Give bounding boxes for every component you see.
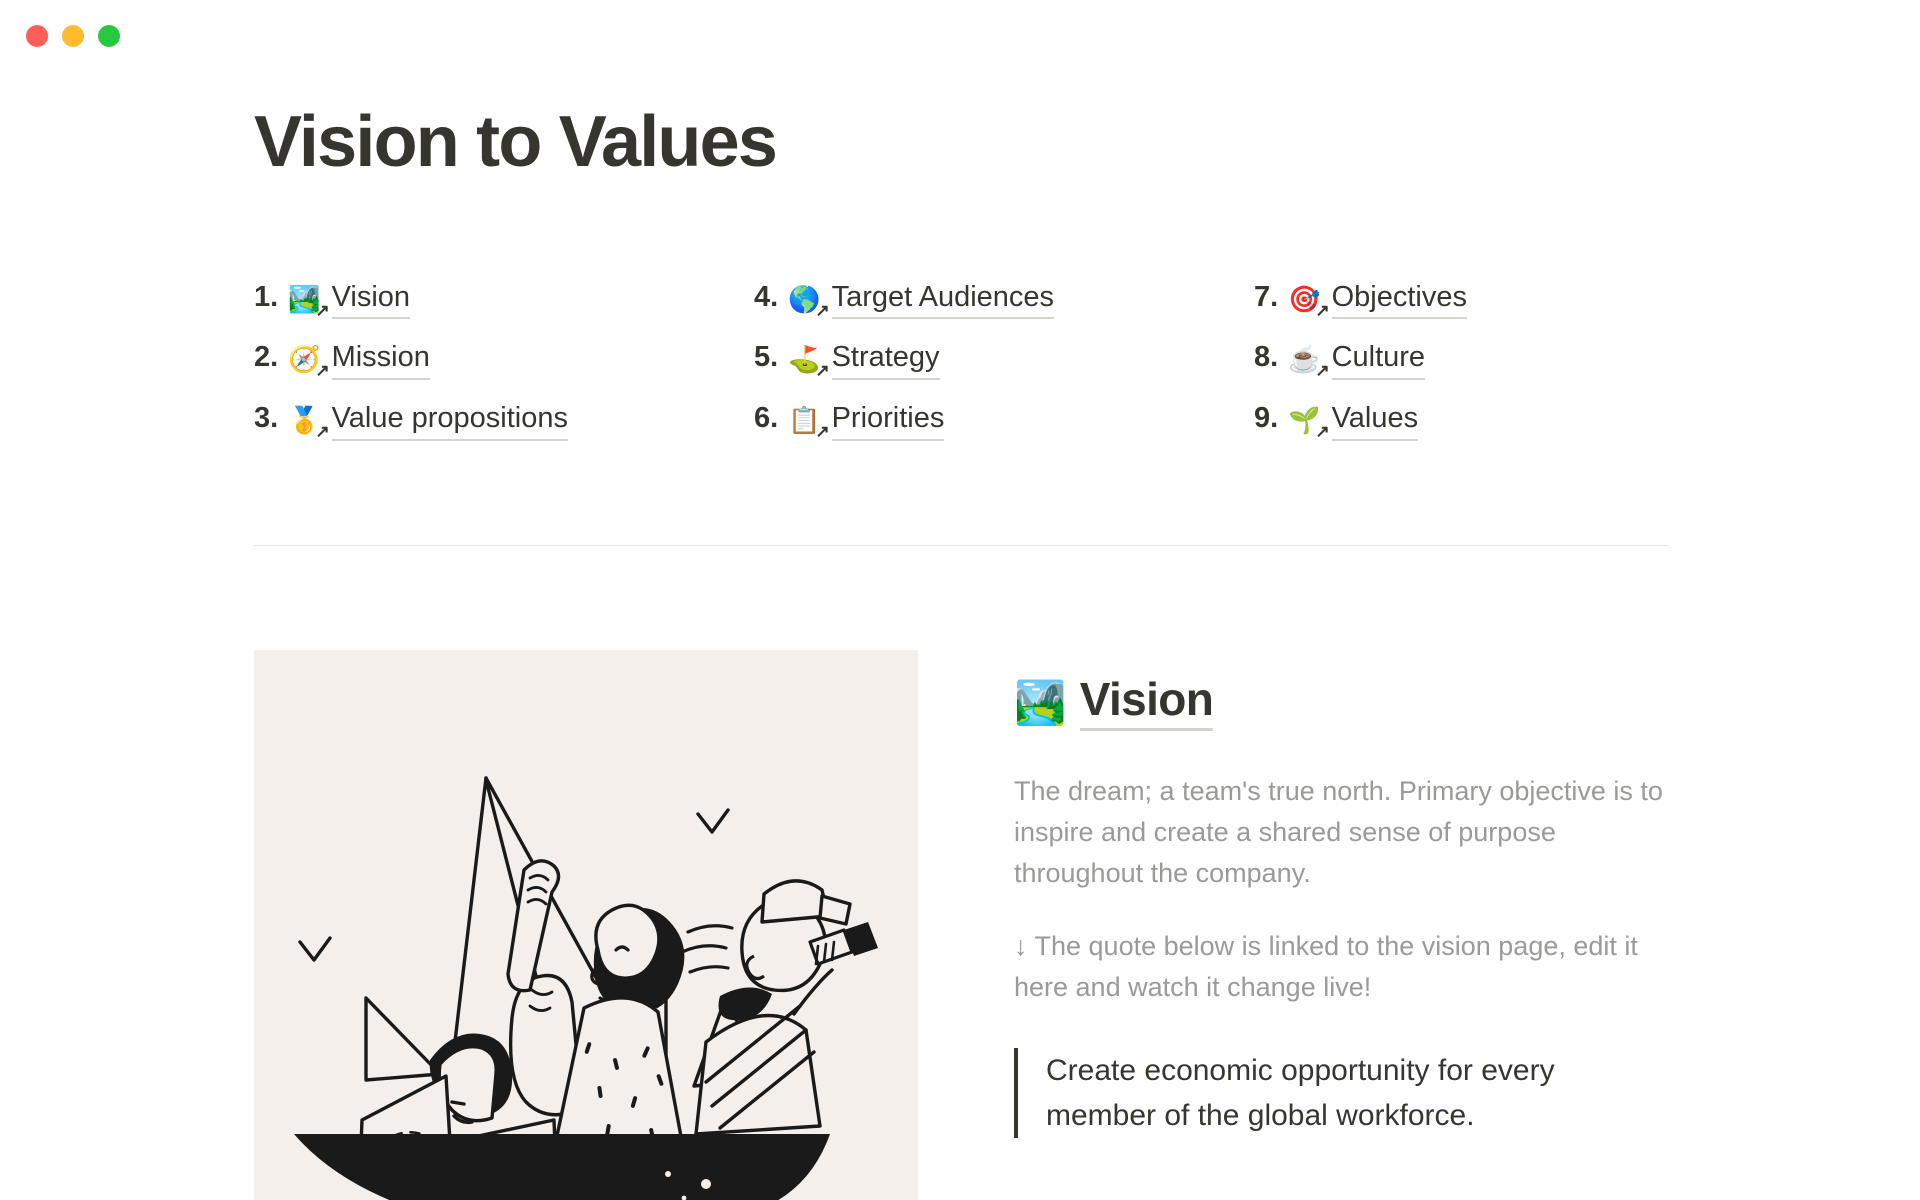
list-number: 4. (754, 279, 778, 317)
list-item: 5. ⛳ Strategy (754, 339, 1254, 380)
list-number: 3. (254, 400, 278, 438)
coffee-cup-icon: ☕ (1288, 346, 1320, 372)
globe-americas-icon: 🌎 (788, 286, 820, 312)
toc-link-priorities[interactable]: 📋 Priorities (788, 400, 944, 441)
window-controls (26, 25, 120, 47)
gold-medal-icon: 🥇 (288, 407, 320, 433)
toc-column-1: 1. 🏞️ Vision 2. 🧭 Mission 3. (254, 279, 754, 441)
toc-link-label: Strategy (832, 339, 940, 380)
toc-link-label: Culture (1332, 339, 1426, 380)
maximize-window-button[interactable] (98, 25, 120, 47)
toc-link-culture[interactable]: ☕ Culture (1288, 339, 1425, 380)
compass-icon: 🧭 (288, 346, 320, 372)
toc-link-label: Value propositions (332, 400, 568, 441)
list-item: 4. 🌎 Target Audiences (754, 279, 1254, 320)
list-item: 1. 🏞️ Vision (254, 279, 754, 320)
vision-description: The dream; a team's true north. Primary … (1014, 771, 1670, 894)
list-item: 8. ☕ Culture (1254, 339, 1674, 380)
toc-column-2: 4. 🌎 Target Audiences 5. ⛳ Strategy 6. (754, 279, 1254, 441)
page-title: Vision to Values (254, 102, 1670, 183)
toc-link-label: Objectives (1332, 279, 1467, 320)
close-window-button[interactable] (26, 25, 48, 47)
list-item: 2. 🧭 Mission (254, 339, 754, 380)
toc-link-values[interactable]: 🌱 Values (1288, 400, 1418, 441)
toc-link-mission[interactable]: 🧭 Mission (288, 339, 430, 380)
vision-hint: ↓ The quote below is linked to the visio… (1014, 926, 1670, 1008)
list-number: 8. (1254, 339, 1278, 377)
mountain-icon: 🏞️ (288, 286, 320, 312)
list-number: 6. (754, 400, 778, 438)
toc-link-label: Target Audiences (832, 279, 1054, 320)
flag-in-hole-icon: ⛳ (788, 346, 820, 372)
list-item: 3. 🥇 Value propositions (254, 400, 754, 441)
toc-link-strategy[interactable]: ⛳ Strategy (788, 339, 939, 380)
table-of-contents: 1. 🏞️ Vision 2. 🧭 Mission 3. (254, 279, 1670, 441)
toc-link-label: Values (1332, 400, 1419, 441)
list-item: 9. 🌱 Values (1254, 400, 1674, 441)
dart-target-icon: 🎯 (1288, 286, 1320, 312)
list-number: 5. (754, 339, 778, 377)
mountain-icon: 🏞️ (1014, 682, 1066, 724)
toc-link-target-audiences[interactable]: 🌎 Target Audiences (788, 279, 1054, 320)
toc-link-objectives[interactable]: 🎯 Objectives (1288, 279, 1467, 320)
toc-link-label: Vision (332, 279, 410, 320)
list-item: 6. 📋 Priorities (754, 400, 1254, 441)
toc-column-3: 7. 🎯 Objectives 8. ☕ Culture 9. (1254, 279, 1674, 441)
page-content: Vision to Values 1. 🏞️ Vision 2. 🧭 Missi… (0, 102, 1920, 1200)
window-titlebar (0, 0, 1920, 72)
clipboard-icon: 📋 (788, 407, 820, 433)
section-divider (254, 545, 1670, 546)
list-number: 2. (254, 339, 278, 377)
list-item: 7. 🎯 Objectives (1254, 279, 1674, 320)
section-title-text: Vision (1080, 672, 1214, 731)
document-page: Vision to Values 1. 🏞️ Vision 2. 🧭 Missi… (0, 72, 1920, 1200)
minimize-window-button[interactable] (62, 25, 84, 47)
toc-link-vision[interactable]: 🏞️ Vision (288, 279, 410, 320)
vision-text-block: 🏞️ Vision The dream; a team's true north… (1014, 650, 1670, 1138)
list-number: 9. (1254, 400, 1278, 438)
toc-link-value-propositions[interactable]: 🥇 Value propositions (288, 400, 568, 441)
toc-link-label: Priorities (832, 400, 945, 441)
seedling-icon: 🌱 (1288, 407, 1320, 433)
vision-quote: Create economic opportunity for every me… (1014, 1048, 1670, 1138)
vision-section: 🏞️ Vision The dream; a team's true north… (254, 650, 1670, 1200)
vision-illustration (254, 650, 918, 1200)
toc-link-label: Mission (332, 339, 430, 380)
list-number: 7. (1254, 279, 1278, 317)
section-title: 🏞️ Vision (1014, 672, 1670, 731)
list-number: 1. (254, 279, 278, 317)
